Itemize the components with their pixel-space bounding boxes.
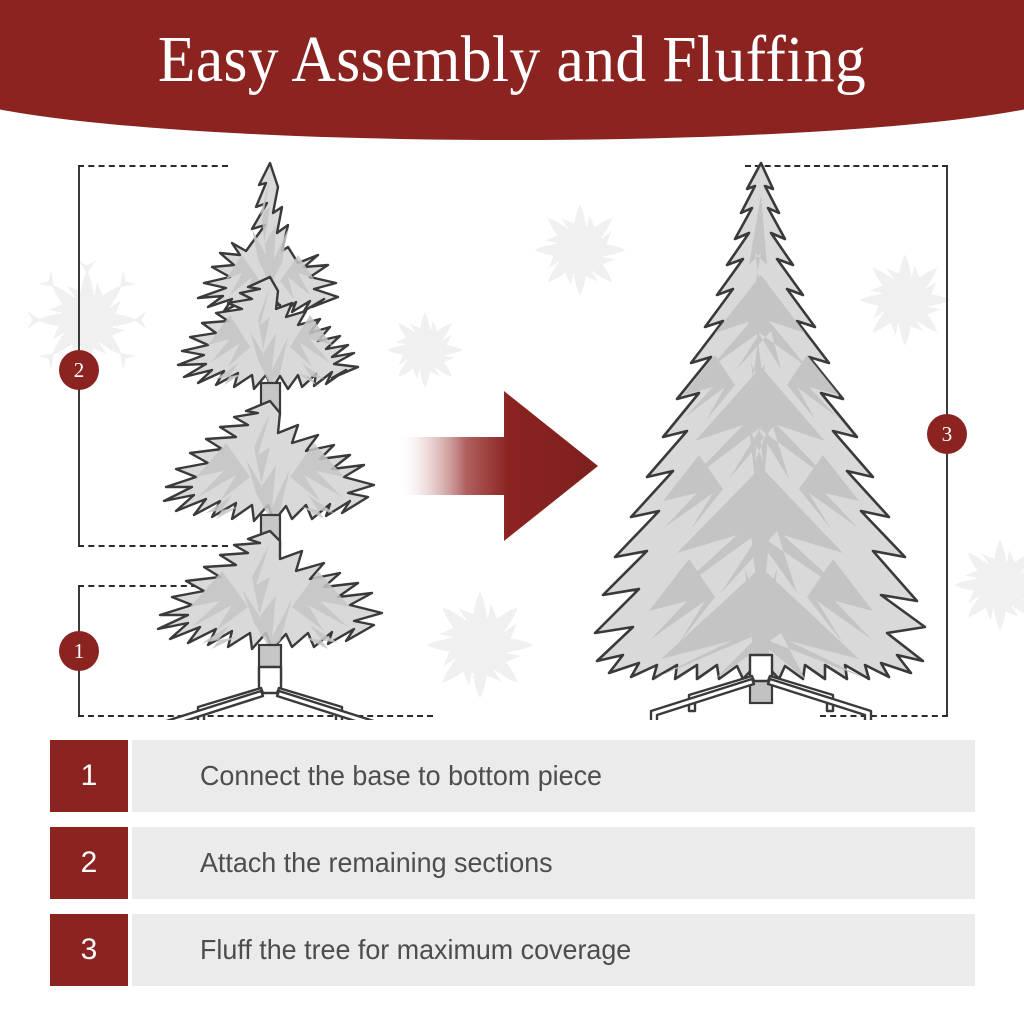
step-label: Fluff the tree for maximum coverage — [200, 914, 631, 986]
step-label: Connect the base to bottom piece — [200, 740, 602, 812]
step-label: Attach the remaining sections — [200, 827, 553, 899]
infographic-page: Easy Assembly and Fluffing — [0, 0, 1024, 1024]
tree-lower-middle-section — [164, 401, 374, 547]
header-banner: Easy Assembly and Fluffing — [0, 0, 1024, 145]
list-item[interactable]: 1 Connect the base to bottom piece — [0, 740, 1024, 812]
list-item[interactable]: 3 Fluff the tree for maximum coverage — [0, 914, 1024, 986]
page-title: Easy Assembly and Fluffing — [36, 21, 988, 99]
assembly-diagram: 2 1 3 — [0, 145, 1024, 735]
steps-list: 1 Connect the base to bottom piece 2 Att… — [0, 740, 1024, 1001]
step-number-badge: 2 — [50, 827, 128, 899]
step-text-bar: Fluff the tree for maximum coverage — [132, 914, 975, 986]
step-number-badge: 3 — [50, 914, 128, 986]
step-number-badge: 1 — [50, 740, 128, 812]
snowflake-icon — [410, 575, 550, 715]
step-marker-1: 1 — [59, 631, 99, 671]
assembled-fluffed-tree — [565, 155, 955, 720]
step-text-bar: Connect the base to bottom piece — [132, 740, 975, 812]
disassembled-tree-sections — [120, 155, 420, 720]
tree-bottom-section — [158, 531, 382, 681]
list-item[interactable]: 2 Attach the remaining sections — [0, 827, 1024, 899]
tree-stand-base — [160, 667, 380, 720]
step-text-bar: Attach the remaining sections — [132, 827, 975, 899]
step-marker-2: 2 — [59, 350, 99, 390]
